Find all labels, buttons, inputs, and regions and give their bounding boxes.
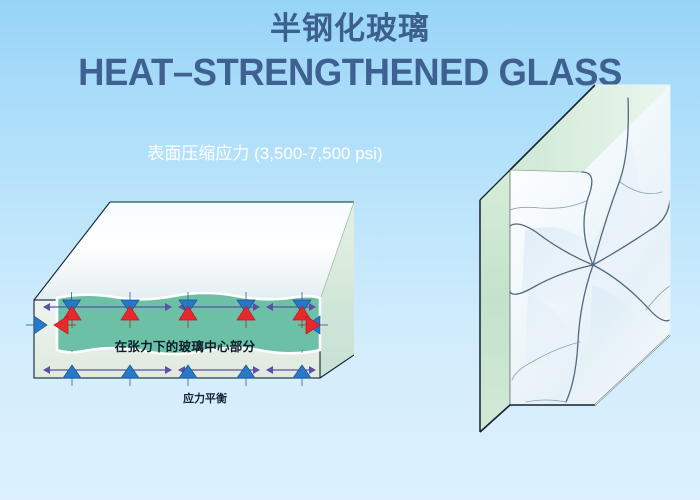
stress-balance-label: 应力平衡	[140, 390, 270, 406]
page-title-chinese: 半钢化玻璃	[0, 10, 700, 48]
poster-canvas: 半钢化玻璃 HEAT–STRENGTHENED GLASS 表面压缩应力 (3,…	[0, 0, 700, 500]
slab-top-face	[34, 202, 354, 300]
surface-compression-subtitle: 表面压缩应力 (3,500-7,500 psi)	[95, 142, 435, 166]
block-left-edge	[480, 170, 510, 432]
fractured-glass-block	[470, 80, 700, 450]
tension-core-label: 在张力下的玻璃中心部分	[95, 336, 275, 355]
stress-diagram-slab	[24, 185, 354, 415]
